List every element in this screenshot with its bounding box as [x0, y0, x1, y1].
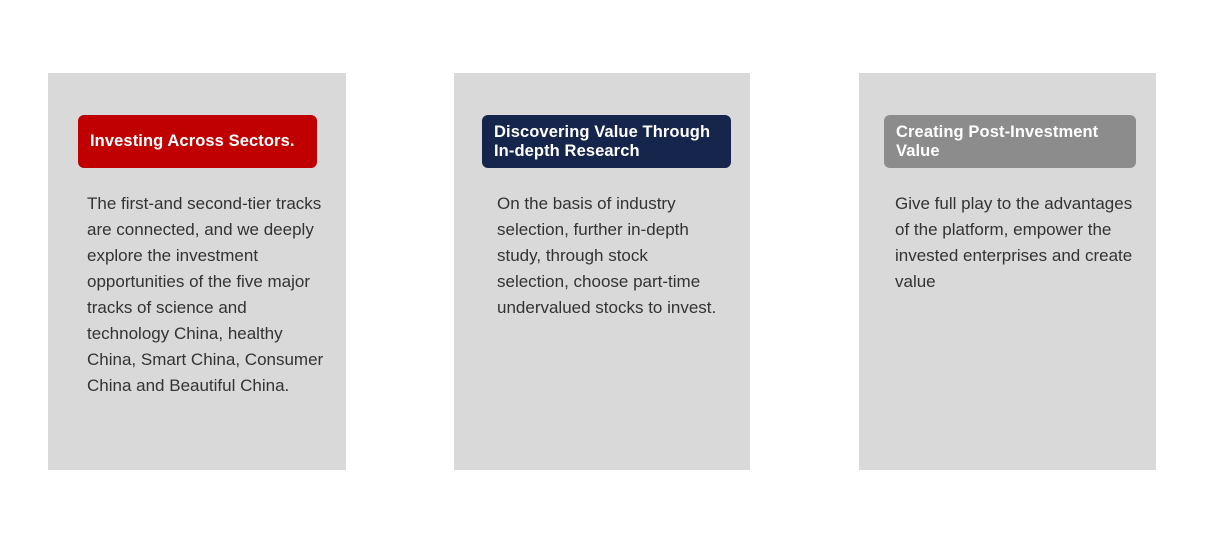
card-badge-label: Investing Across Sectors. [90, 132, 295, 151]
card-investing-across-sectors: Investing Across Sectors. The first-and … [48, 73, 346, 470]
card-discovering-value-through-in-depth-research: Discovering Value Through In-depth Resea… [454, 73, 750, 470]
card-creating-post-investment-value: Creating Post-Investment Value Give full… [859, 73, 1156, 470]
card-badge-discovering-value-through-in-depth-research: Discovering Value Through In-depth Resea… [482, 115, 731, 168]
card-badge-label: Discovering Value Through In-depth Resea… [494, 123, 719, 161]
cards-board: Investing Across Sectors. The first-and … [0, 0, 1212, 558]
card-body-investing-across-sectors: The first-and second-tier tracks are con… [87, 191, 327, 399]
card-body-creating-post-investment-value: Give full play to the advantages of the … [895, 191, 1135, 295]
card-badge-label: Creating Post-Investment Value [896, 123, 1124, 161]
card-badge-creating-post-investment-value: Creating Post-Investment Value [884, 115, 1136, 168]
card-badge-investing-across-sectors: Investing Across Sectors. [78, 115, 317, 168]
card-body-discovering-value-through-in-depth-research: On the basis of industry selection, furt… [497, 191, 722, 321]
